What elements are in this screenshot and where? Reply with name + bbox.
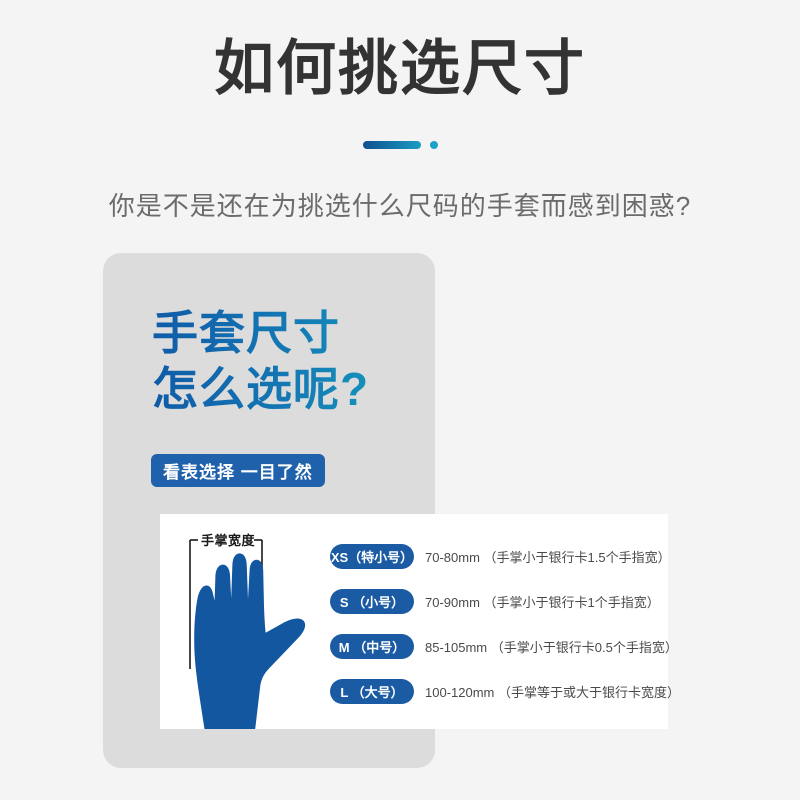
size-badge-m: M （中号）: [330, 634, 414, 659]
promo-tag-badge: 看表选择 一目了然: [151, 454, 325, 487]
size-list: XS（特小号） 70-80mm （手掌小于银行卡1.5个手指宽） S （小号） …: [330, 542, 668, 722]
title-divider: [0, 138, 800, 152]
size-table-panel: 手掌宽度 XS（特小号） 70-80mm （手掌小于银行卡1.5个手指宽） S …: [160, 514, 668, 729]
palm-width-label: 手掌宽度: [201, 530, 255, 549]
size-guide-page: 如何挑选尺寸 你是不是还在为挑选什么尺码的手套而感到困惑? 手套尺寸 怎么选呢?…: [0, 0, 800, 800]
table-row: M （中号） 85-105mm （手掌小于银行卡0.5个手指宽）: [330, 632, 668, 660]
size-desc-m: 85-105mm （手掌小于银行卡0.5个手指宽）: [425, 637, 678, 656]
table-row: S （小号） 70-90mm （手掌小于银行卡1个手指宽）: [330, 587, 668, 615]
size-desc-s: 70-90mm （手掌小于银行卡1个手指宽）: [425, 592, 660, 611]
divider-bar-icon: [363, 141, 421, 149]
table-row: XS（特小号） 70-80mm （手掌小于银行卡1.5个手指宽）: [330, 542, 668, 570]
size-desc-xs: 70-80mm （手掌小于银行卡1.5个手指宽）: [425, 547, 671, 566]
size-badge-s: S （小号）: [330, 589, 414, 614]
page-title: 如何挑选尺寸: [0, 33, 800, 105]
size-badge-l: L （大号）: [330, 679, 414, 704]
size-desc-l: 100-120mm （手掌等于或大于银行卡宽度）: [425, 682, 680, 701]
promo-headline-line-2: 怎么选呢?: [152, 361, 452, 417]
size-badge-xs: XS（特小号）: [330, 544, 414, 569]
divider-dot-icon: [430, 141, 438, 149]
promo-headline: 手套尺寸 怎么选呢?: [152, 305, 452, 417]
table-row: L （大号） 100-120mm （手掌等于或大于银行卡宽度）: [330, 677, 668, 705]
hand-diagram: 手掌宽度: [160, 514, 335, 729]
page-subtitle: 你是不是还在为挑选什么尺码的手套而感到困惑?: [0, 186, 800, 223]
promo-headline-line-1: 手套尺寸: [152, 305, 452, 361]
